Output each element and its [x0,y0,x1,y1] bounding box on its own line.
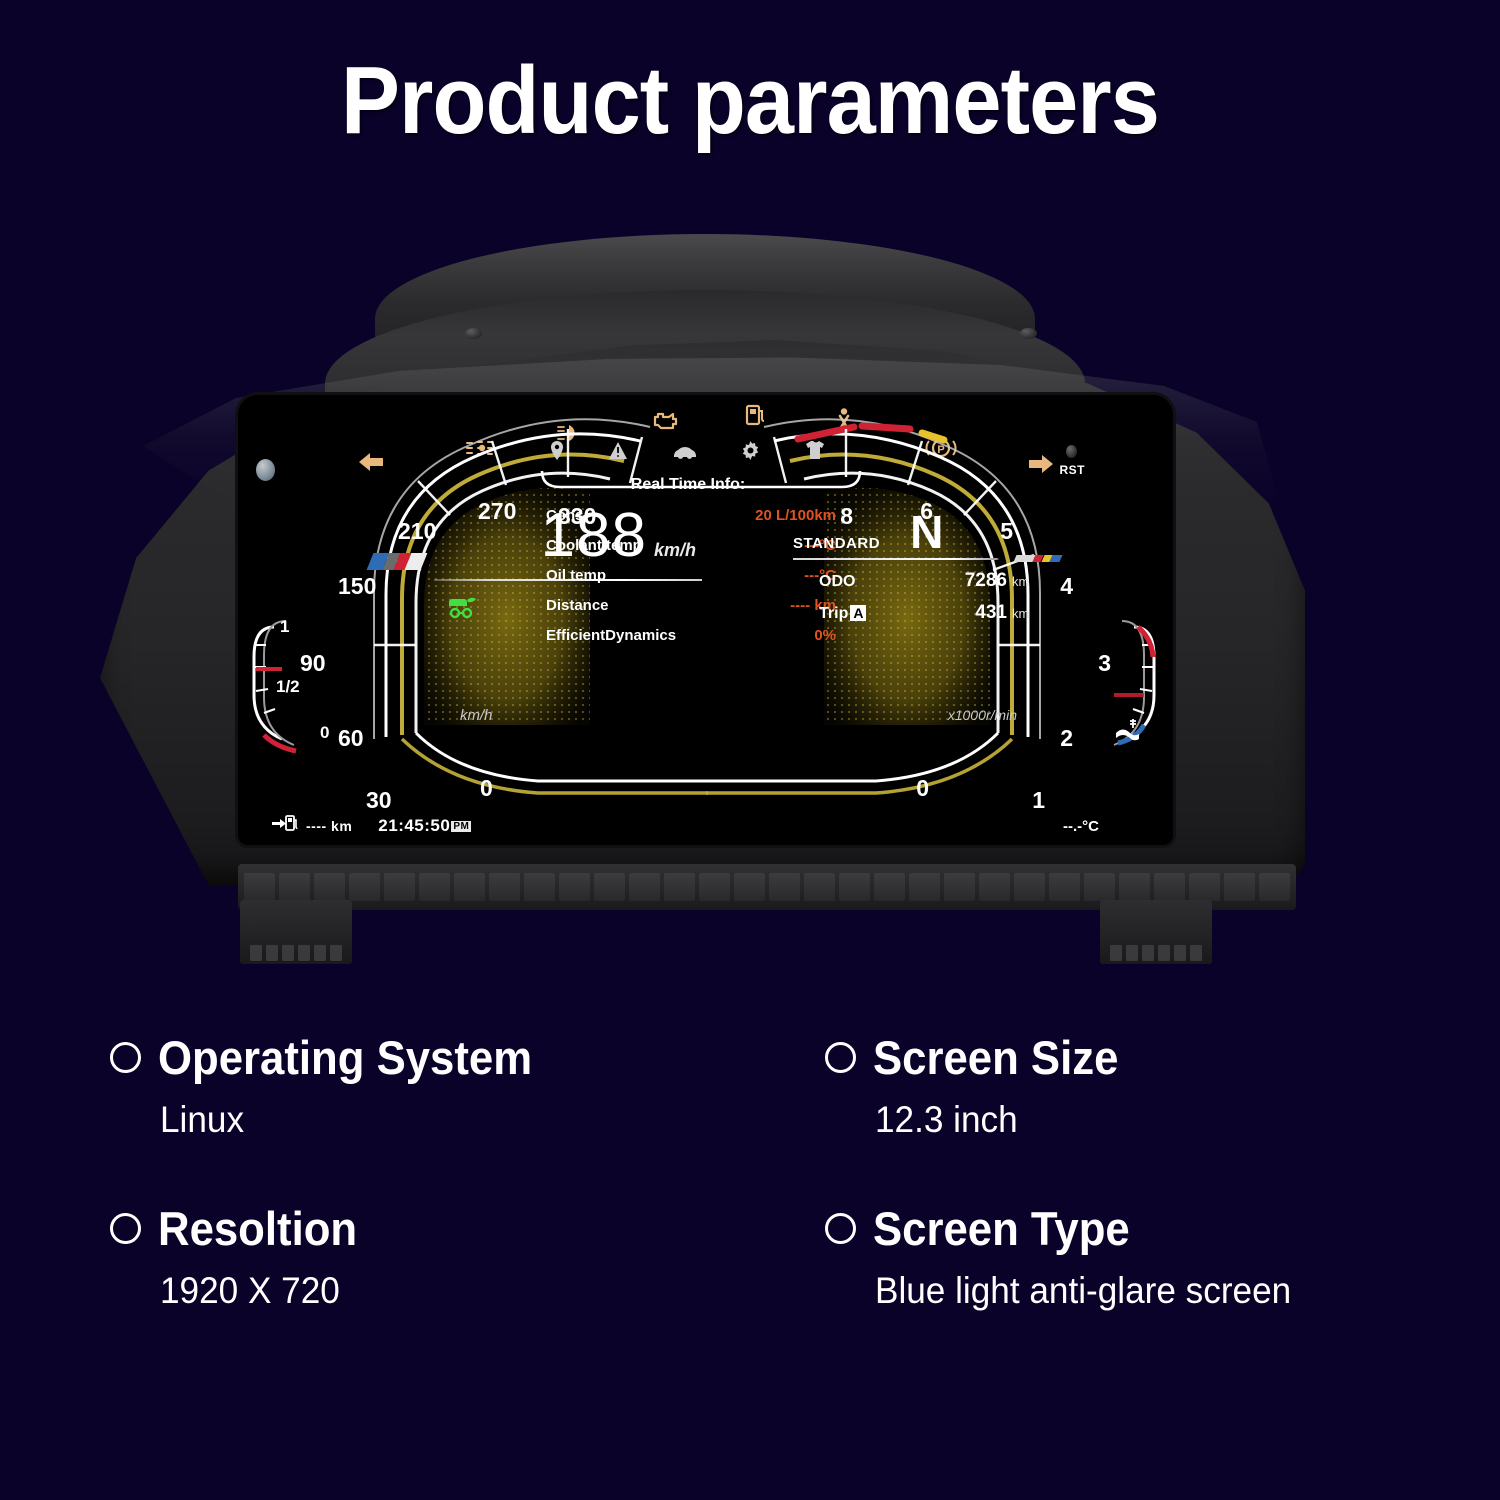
hood-screw-left-icon [465,328,482,339]
trip-value: 431 [915,602,1007,624]
speed-tick-210: 210 [398,518,436,545]
fuel-tick-half: 1/2 [276,677,300,697]
bullet-circle-icon [825,1042,856,1073]
spec-title: Screen Size [873,1030,1118,1085]
fuel-tick-full: 1 [280,617,289,637]
location-pin-icon[interactable] [550,441,564,465]
rti-menu-icons [534,443,842,469]
clock-ampm: PM [451,821,471,832]
speed-tick-0: 0 [480,775,493,802]
rpm-tick-3: 3 [1098,650,1111,677]
odo-unit: km [1012,574,1029,589]
eco-green-icon [446,591,480,621]
spec-title: Operating System [158,1030,532,1085]
odometer-row: ODO 7286 km [793,570,1061,592]
oil-temp-icon [1113,717,1143,748]
rti-label: Oil temp [546,567,606,584]
spec-item-resolution: Resoltion 1920 X 720 [110,1201,825,1312]
spec-title: Resoltion [158,1201,357,1256]
rpm-tick-2: 2 [1060,725,1073,752]
trip-badge: A [850,605,866,621]
rti-label: Coolant temp [546,537,642,554]
drive-mode-label: STANDARD [793,535,880,552]
spec-item-screen-type: Screen Type Blue light anti-glare screen [825,1201,1410,1312]
odo-value: 7286 [915,570,1007,592]
rti-row: EfficientDynamics 0% [534,627,842,644]
wiring-connector-left [240,900,352,964]
bullet-circle-icon [110,1213,141,1244]
spec-item-operating-system: Operating System Linux [110,1030,825,1141]
rpm-tick-4: 4 [1060,573,1073,600]
rti-label: Cons. [546,507,588,524]
speed-tick-60: 60 [338,725,364,752]
m-badge-icon [370,553,424,570]
gear-icon[interactable] [741,441,760,465]
rti-label: Distance [546,597,609,614]
trip-unit: km [1012,606,1029,621]
instrument-lcd-screen: P RST [238,395,1173,845]
m-stripe-icon [1015,555,1061,562]
fuel-range-icon [272,815,298,837]
status-bar: ---- km 21:45:50PM --.-°C [238,809,1173,843]
rti-label: EfficientDynamics [546,627,676,644]
trip-row: TripA 431 km [793,602,1061,624]
trip-label: TripA [819,605,915,623]
speed-scale-unit: km/h [460,707,493,724]
speed-tick-90: 90 [300,650,326,677]
spec-value: Linux [160,1099,792,1141]
speed-tick-150: 150 [338,573,376,600]
outside-temperature: --.-°C [1063,818,1099,835]
drive-info-divider [793,558,1061,560]
page-title: Product parameters [60,46,1440,156]
spec-item-screen-size: Screen Size 12.3 inch [825,1030,1410,1141]
fuel-range-group: ---- km [272,815,352,837]
drive-info-panel: STANDARD N ODO 7286 km TripA 431 km [793,513,1061,624]
odo-label: ODO [819,573,915,591]
fuel-tick-empty: 0 [320,723,329,743]
wiring-connector-right [1100,900,1212,964]
rpm-scale-unit: x1000r/min [948,707,1017,723]
car-icon[interactable] [672,444,698,465]
spec-list: Operating System Linux Screen Size 12.3 … [110,1030,1410,1312]
product-photo: P RST [90,228,1320,968]
clock-time: 21:45:50 [378,816,450,835]
warning-triangle-icon[interactable] [608,441,628,465]
connector-pins [1110,945,1202,961]
bullet-circle-icon [825,1213,856,1244]
spec-value: Blue light anti-glare screen [875,1270,1383,1312]
bullet-circle-icon [110,1042,141,1073]
gear-indicator: N [910,513,943,552]
shirt-icon[interactable] [804,440,826,465]
clock: 21:45:50PM [378,816,471,836]
rpm-tick-0: 0 [916,775,929,802]
spec-value: 1920 X 720 [160,1270,792,1312]
spec-title: Screen Type [873,1201,1130,1256]
trip-label-text: Trip [819,605,848,622]
spec-value: 12.3 inch [875,1099,1383,1141]
rti-value: 0% [814,627,836,644]
hood-screw-right-icon [1020,328,1037,339]
connector-pins [250,945,342,961]
fuel-range-value: ---- km [306,818,352,834]
rti-title: Real Time Info: [534,476,842,494]
